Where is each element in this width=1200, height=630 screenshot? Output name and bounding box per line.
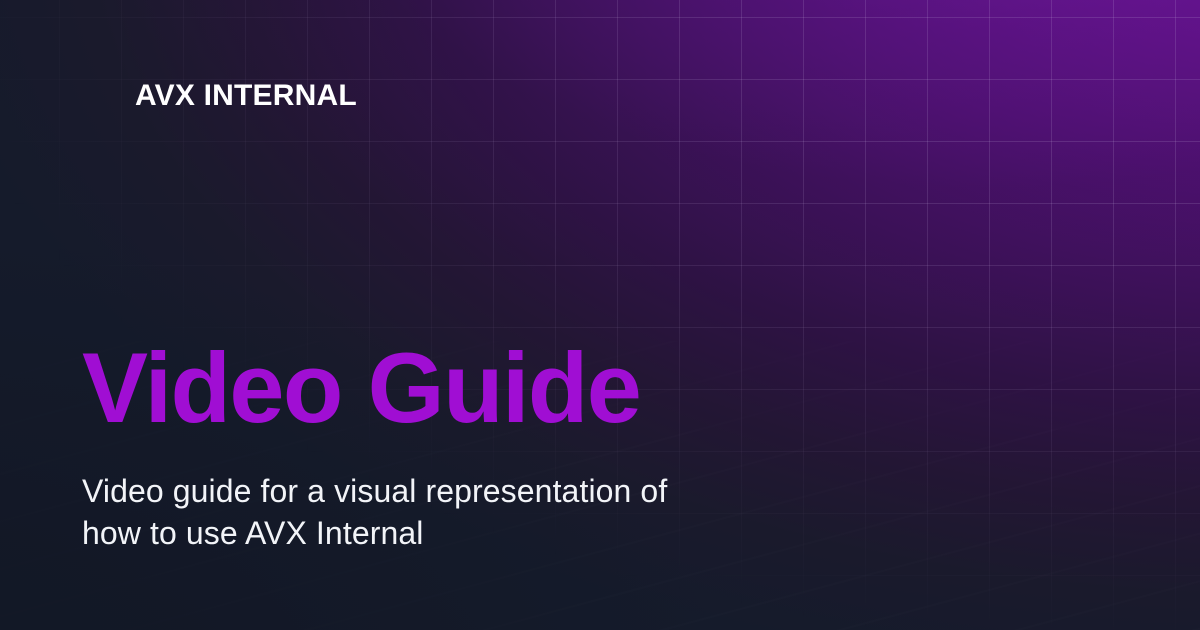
page-subtitle-line-1: Video guide for a visual representation … bbox=[82, 470, 812, 512]
page-subtitle: Video guide for a visual representation … bbox=[82, 470, 812, 554]
brand-wordmark: AVX INTERNAL bbox=[135, 79, 357, 112]
card-content: AVX INTERNAL Video Guide Video guide for… bbox=[0, 0, 1200, 630]
page-subtitle-line-2: how to use AVX Internal bbox=[82, 512, 812, 554]
og-card: AVX INTERNAL Video Guide Video guide for… bbox=[0, 0, 1200, 630]
page-title: Video Guide bbox=[82, 338, 640, 437]
